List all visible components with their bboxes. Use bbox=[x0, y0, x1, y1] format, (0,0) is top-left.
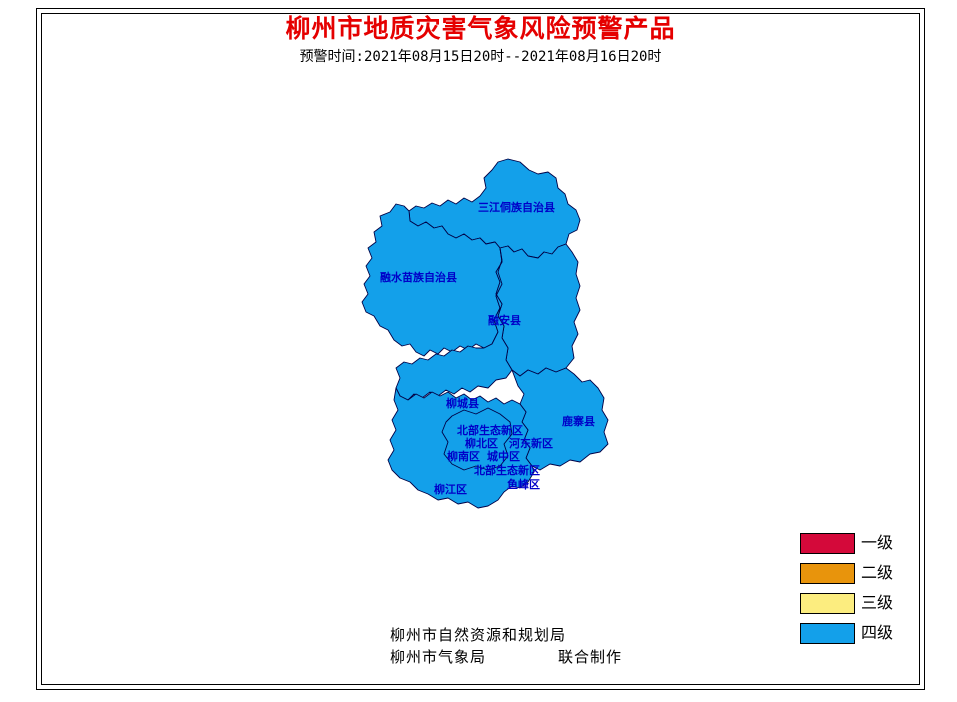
map-label-liunan: 柳南区 bbox=[447, 451, 480, 463]
legend-label-level-3: 三级 bbox=[861, 594, 893, 612]
footer-line-natural-resources: 柳州市自然资源和规划局 bbox=[390, 624, 720, 646]
map-label-luzhai: 鹿寨县 bbox=[562, 416, 595, 428]
map-label-chengzhong: 城中区 bbox=[487, 451, 520, 463]
legend-swatch-level-3 bbox=[800, 593, 855, 614]
footer-block: 柳州市自然资源和规划局 柳州市气象局 联合制作 bbox=[390, 624, 720, 668]
map-label-sanjiang: 三江侗族自治县 bbox=[478, 202, 555, 214]
map-label-liujiang: 柳江区 bbox=[434, 484, 467, 496]
footer-spacer bbox=[486, 646, 558, 668]
legend-label-level-4: 四级 bbox=[861, 624, 893, 642]
footer-line-meteorological: 柳州市气象局 联合制作 bbox=[390, 646, 720, 668]
legend-swatch-level-1 bbox=[800, 533, 855, 554]
region-rongan bbox=[496, 244, 580, 376]
legend-row-level-2: 二级 bbox=[800, 558, 910, 588]
map-label-hedong-new-area: 河东新区 bbox=[509, 438, 553, 450]
map-label-rongshui: 融水苗族自治县 bbox=[380, 272, 457, 284]
legend-label-level-1: 一级 bbox=[861, 534, 893, 552]
legend-label-level-2: 二级 bbox=[861, 564, 893, 582]
footer-text-jointly-produced: 联合制作 bbox=[558, 646, 622, 668]
footer-text-natural-resources-bureau: 柳州市自然资源和规划局 bbox=[390, 624, 566, 646]
map-label-beibu-ecological-new-area-1: 北部生态新区 bbox=[457, 425, 523, 437]
map-label-liubei: 柳北区 bbox=[465, 438, 498, 450]
footer-text-meteorological-bureau: 柳州市气象局 bbox=[390, 646, 486, 668]
map-label-rongan: 融安县 bbox=[488, 315, 521, 327]
legend-swatch-level-4 bbox=[800, 623, 855, 644]
map-label-liucheng: 柳城县 bbox=[446, 398, 479, 410]
legend-row-level-4: 四级 bbox=[800, 618, 910, 648]
map-label-beibu-ecological-new-area-2: 北部生态新区 bbox=[474, 465, 540, 477]
legend-row-level-1: 一级 bbox=[800, 528, 910, 558]
risk-level-legend: 一级 二级 三级 四级 bbox=[800, 528, 910, 648]
liuzhou-district-map: 三江侗族自治县 融水苗族自治县 融安县 柳城县 鹿寨县 北部生态新区 柳北区 河… bbox=[352, 148, 622, 533]
warning-product-page: 柳州市地质灾害气象风险预警产品 预警时间:2021年08月15日20时--202… bbox=[0, 0, 957, 702]
legend-row-level-3: 三级 bbox=[800, 588, 910, 618]
legend-swatch-level-2 bbox=[800, 563, 855, 584]
map-label-yufeng: 鱼峰区 bbox=[507, 479, 540, 491]
